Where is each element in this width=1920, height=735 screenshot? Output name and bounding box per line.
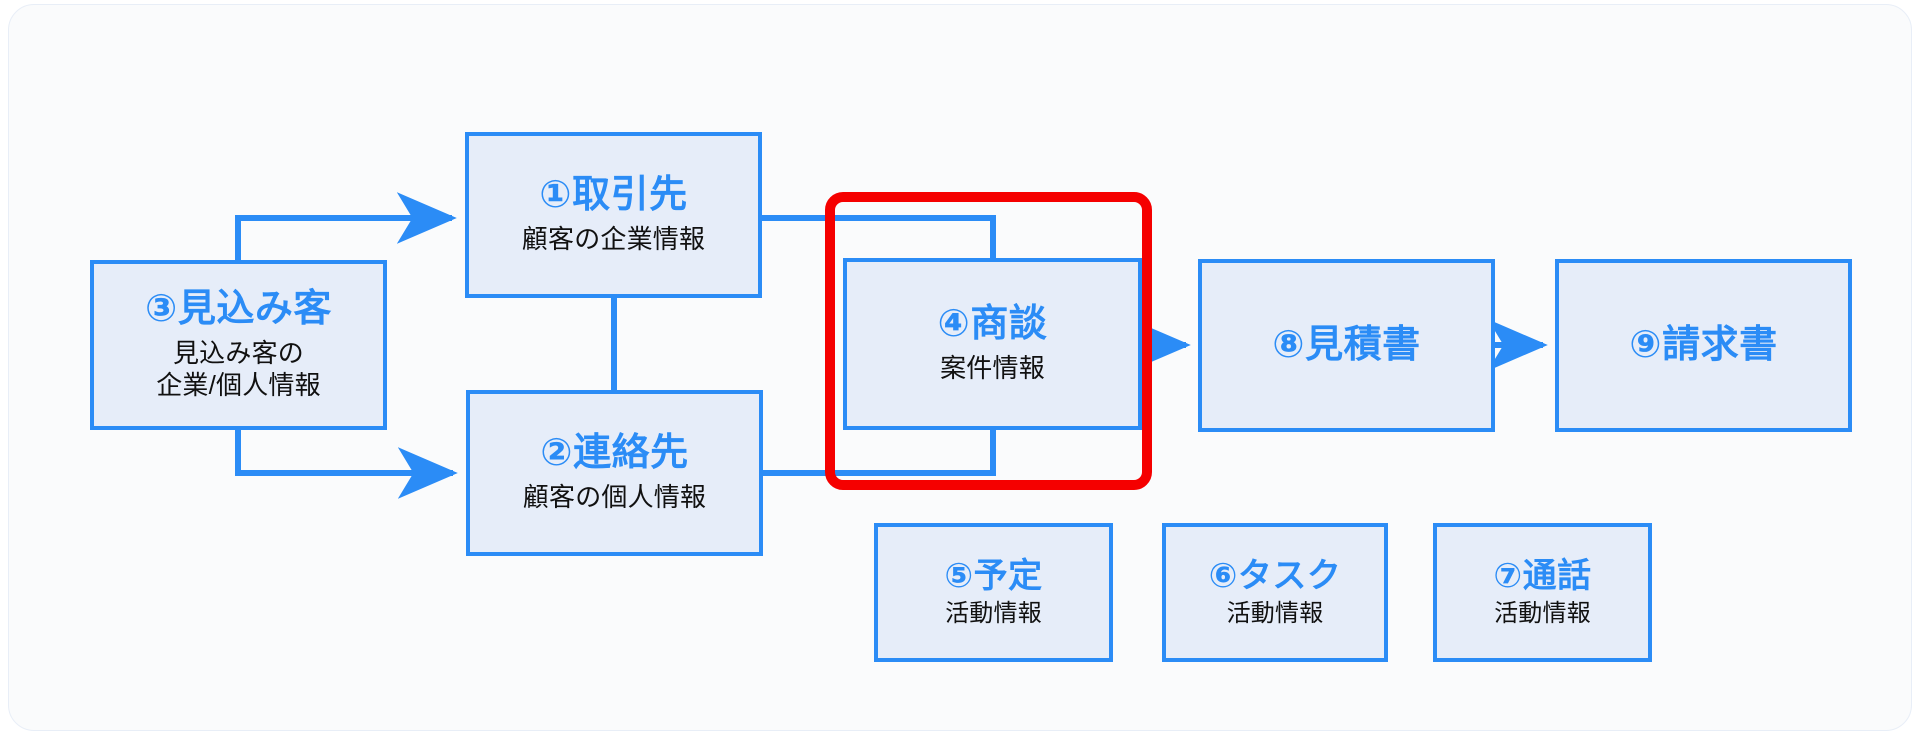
node-label: 通話 — [1523, 557, 1592, 595]
node-opportunity-title: ④商談 — [938, 303, 1048, 347]
node-event-subtitle: 活動情報 — [945, 599, 1042, 628]
node-quote[interactable]: ⑧見積書 — [1198, 259, 1495, 432]
node-label: 見込み客 — [178, 288, 332, 330]
node-task-subtitle: 活動情報 — [1227, 599, 1324, 628]
node-label: タスク — [1238, 557, 1342, 595]
node-call-subtitle: 活動情報 — [1494, 599, 1591, 628]
node-label: 取引先 — [572, 174, 688, 216]
node-contact-title: ②連絡先 — [540, 432, 688, 476]
node-number: ④ — [938, 303, 971, 345]
node-invoice[interactable]: ⑨請求書 — [1555, 259, 1852, 432]
node-contact[interactable]: ②連絡先 顧客の個人情報 — [466, 390, 763, 556]
node-account-title: ①取引先 — [539, 174, 687, 218]
node-event[interactable]: ⑤予定 活動情報 — [874, 523, 1113, 662]
node-account[interactable]: ①取引先 顧客の企業情報 — [465, 132, 762, 298]
node-call-title: ⑦通話 — [1493, 557, 1591, 596]
connector-lead-to-account — [238, 218, 452, 260]
node-number: ⑦ — [1493, 557, 1522, 595]
node-label: 商談 — [970, 303, 1047, 345]
diagram-canvas: ①取引先 顧客の企業情報 ②連絡先 顧客の個人情報 ③見込み客 見込み客の 企業… — [0, 0, 1920, 735]
node-invoice-title: ⑨請求書 — [1629, 324, 1777, 368]
node-number: ⑤ — [944, 557, 973, 595]
node-call[interactable]: ⑦通話 活動情報 — [1433, 523, 1652, 662]
node-contact-subtitle: 顧客の個人情報 — [523, 482, 706, 514]
node-task-title: ⑥タスク — [1209, 557, 1342, 596]
node-event-title: ⑤予定 — [944, 557, 1042, 596]
connector-contact-to-opportunity — [763, 430, 993, 473]
node-opportunity-subtitle: 案件情報 — [940, 353, 1045, 385]
node-label: 見積書 — [1305, 324, 1421, 366]
node-number: ① — [539, 174, 572, 216]
connector-account-to-opportunity — [762, 218, 993, 258]
node-quote-title: ⑧見積書 — [1272, 324, 1420, 368]
node-lead-title: ③見込み客 — [145, 288, 332, 332]
diagram-root: ①取引先 顧客の企業情報 ②連絡先 顧客の個人情報 ③見込み客 見込み客の 企業… — [0, 0, 1920, 735]
node-number: ③ — [145, 288, 178, 330]
connector-lead-to-contact — [238, 430, 453, 473]
node-label: 予定 — [974, 557, 1043, 595]
node-task[interactable]: ⑥タスク 活動情報 — [1162, 523, 1388, 662]
node-number: ② — [540, 432, 573, 474]
node-number: ⑨ — [1629, 324, 1662, 366]
node-label: 請求書 — [1662, 324, 1778, 366]
node-number: ⑧ — [1272, 324, 1305, 366]
node-lead[interactable]: ③見込み客 見込み客の 企業/個人情報 — [90, 260, 387, 430]
node-lead-subtitle: 見込み客の 企業/個人情報 — [156, 338, 321, 401]
node-account-subtitle: 顧客の企業情報 — [522, 224, 705, 256]
node-label: 連絡先 — [573, 432, 689, 474]
node-number: ⑥ — [1209, 557, 1238, 595]
node-opportunity[interactable]: ④商談 案件情報 — [843, 258, 1142, 430]
